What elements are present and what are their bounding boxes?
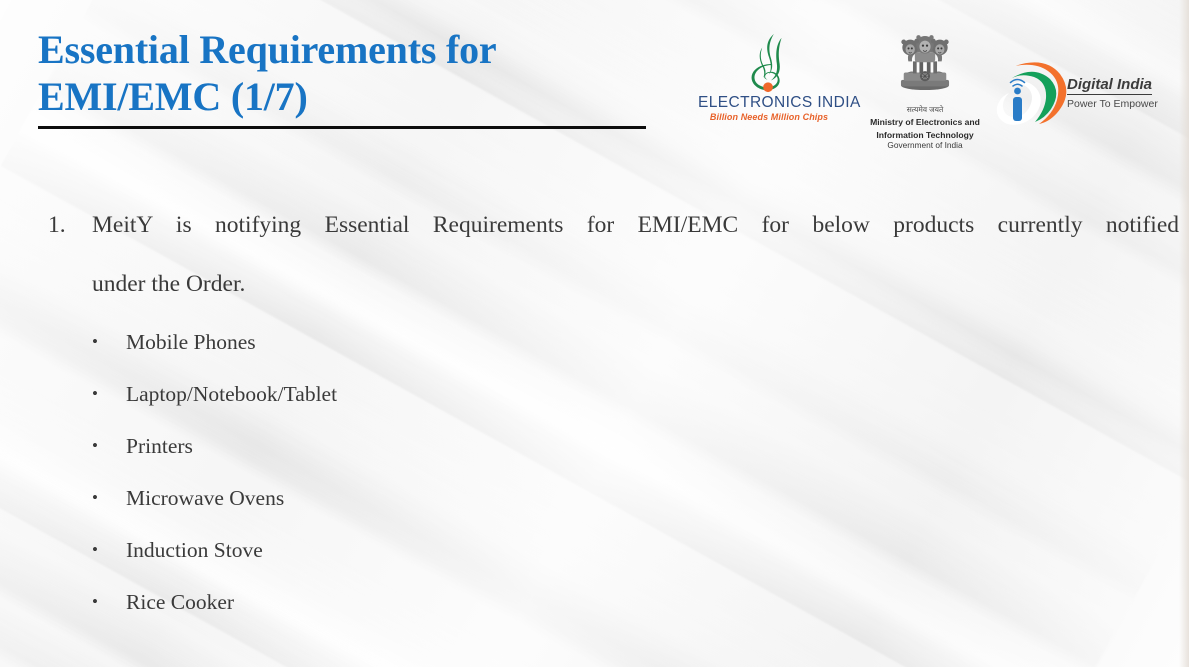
electronics-india-tagline: Billion Needs Million Chips	[698, 111, 840, 123]
list-item: • Laptop/Notebook/Tablet	[0, 368, 1189, 420]
bullet-icon: •	[92, 576, 98, 628]
electronics-india-logo: ELECTRONICS INDIA Billion Needs Million …	[698, 32, 840, 123]
numbered-item-line-1: MeitY is notifying Essential Requirement…	[92, 196, 1179, 255]
product-list: • Mobile Phones • Laptop/Notebook/Tablet…	[0, 316, 1189, 628]
list-item: • Printers	[0, 420, 1189, 472]
digital-india-name: Digital India	[1067, 76, 1152, 95]
list-item-label: Induction Stove	[126, 538, 263, 562]
meity-satyameva-jayate: सत्यमेव जयते	[865, 105, 985, 114]
title-block: Essential Requirements forEMI/EMC (1/7)	[38, 26, 678, 120]
list-item-label: Microwave Ovens	[126, 486, 284, 510]
bullet-icon: •	[92, 420, 98, 472]
numbered-item-marker: 1.	[48, 196, 66, 255]
list-item: • Mobile Phones	[0, 316, 1189, 368]
page-title-line-1: Essential Requirements for	[38, 27, 496, 72]
meity-name-line-2: Information Technology	[865, 130, 985, 140]
bullet-icon: •	[92, 524, 98, 576]
logo-bar: ELECTRONICS INDIA Billion Needs Million …	[690, 28, 1170, 146]
list-item-label: Laptop/Notebook/Tablet	[126, 382, 337, 406]
ashoka-lion-capital-icon	[888, 28, 962, 104]
list-item: • Microwave Ovens	[0, 472, 1189, 524]
meity-name-line-1: Ministry of Electronics and	[865, 117, 985, 127]
meity-logo: सत्यमेव जयते Ministry of Electronics and…	[865, 28, 985, 150]
list-item: • Rice Cooker	[0, 576, 1189, 628]
digital-india-swoosh-icon	[995, 56, 1075, 128]
meity-government-of-india: Government of India	[865, 140, 985, 150]
presentation-slide: Essential Requirements forEMI/EMC (1/7) …	[0, 0, 1189, 667]
bullet-icon: •	[92, 316, 98, 368]
list-item-label: Mobile Phones	[126, 330, 256, 354]
numbered-item: 1. MeitY is notifying Essential Requirem…	[0, 196, 1189, 314]
numbered-item-line-2: under the Order.	[92, 255, 1179, 314]
list-item-label: Printers	[126, 434, 193, 458]
title-divider	[38, 126, 646, 129]
digital-india-logo: Digital India Power To Empower	[995, 56, 1165, 126]
electronics-india-flame-icon	[738, 32, 800, 94]
page-title-line-2: EMI/EMC (1/7)	[38, 74, 308, 119]
electronics-india-name: ELECTRONICS INDIA	[698, 94, 840, 111]
digital-india-tagline: Power To Empower	[1067, 97, 1158, 111]
bullet-icon: •	[92, 368, 98, 420]
list-item-label: Rice Cooker	[126, 590, 234, 614]
page-title: Essential Requirements forEMI/EMC (1/7)	[38, 26, 678, 120]
list-item: • Induction Stove	[0, 524, 1189, 576]
bullet-icon: •	[92, 472, 98, 524]
digital-india-text: Digital India Power To Empower	[1067, 76, 1158, 111]
numbered-item-text: MeitY is notifying Essential Requirement…	[92, 196, 1179, 314]
slide-content: 1. MeitY is notifying Essential Requirem…	[0, 196, 1189, 644]
